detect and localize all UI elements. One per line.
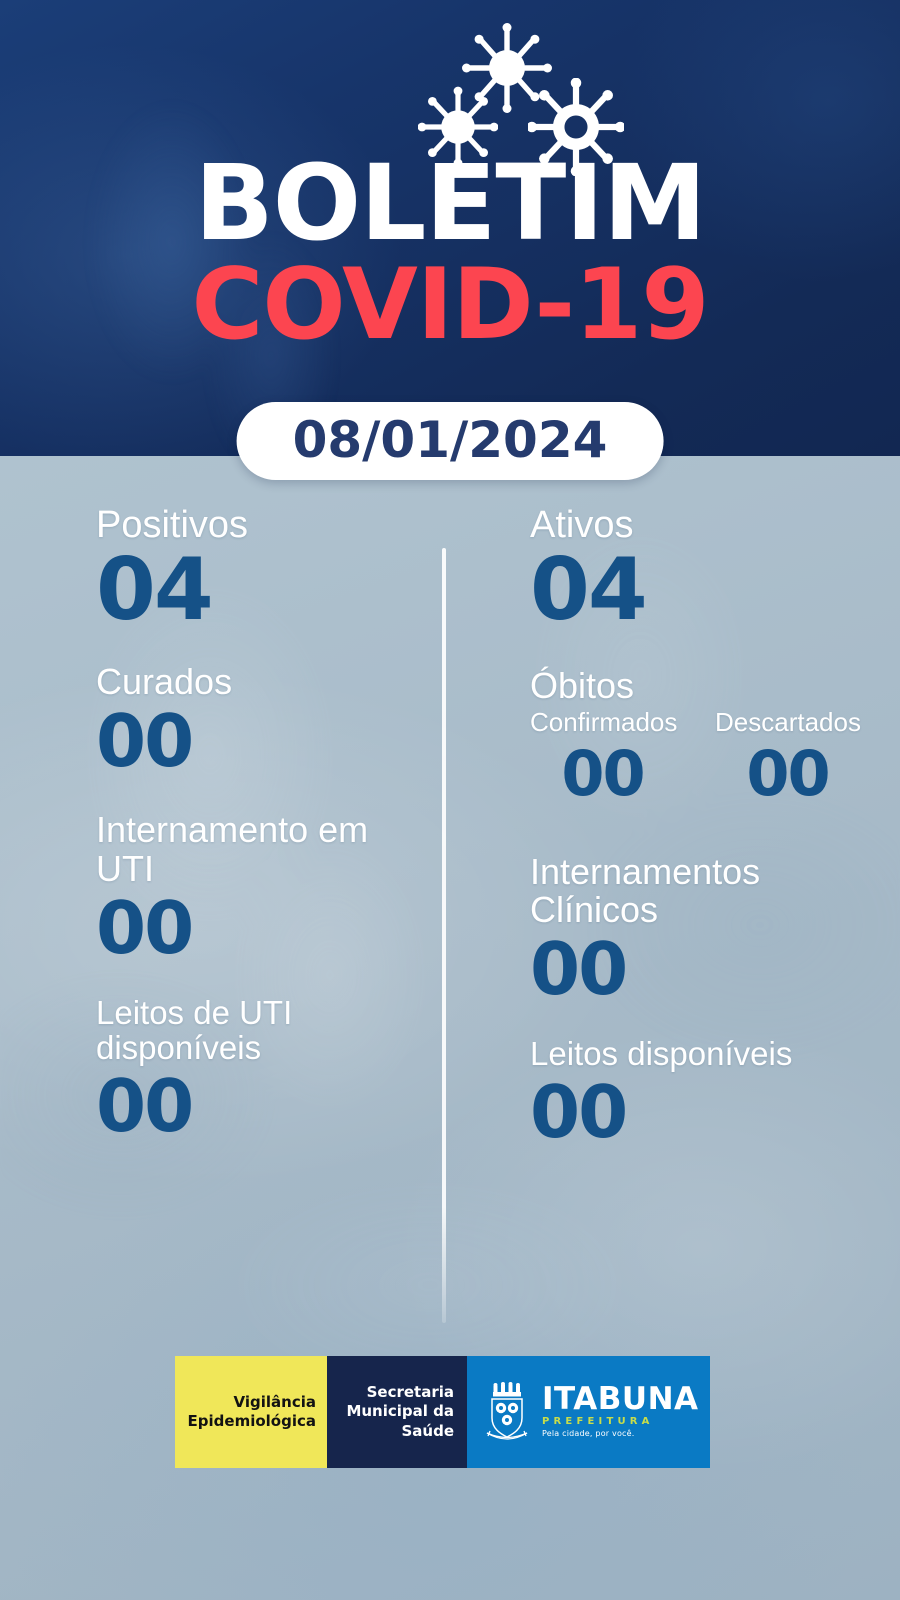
date-badge: 08/01/2024 [237,402,664,480]
footer-secretaria-line2: Municipal da [346,1402,454,1421]
itabuna-brand-sub: PREFEITURA [542,1415,699,1429]
stat-internamento-uti: Internamento em UTI 00 [96,811,436,963]
stat-sublabel: Descartados [715,709,860,737]
stat-sublabel: Confirmados [530,709,675,737]
boletim-covid-poster: BOLETIM COVID-19 08/01/2024 Positivos 04… [0,0,900,1600]
stat-leitos-uti-disponiveis: Leitos de UTI disponíveis 00 [96,996,436,1142]
footer-panel-vigilancia: Vigilância Epidemiológica [175,1356,327,1468]
footer-vigilancia-text: Vigilância Epidemiológica [188,1393,316,1431]
stat-obitos-confirmados: Confirmados 00 [530,709,675,805]
stat-obitos-descartados: Descartados 00 [715,709,860,805]
stat-positivos: Positivos 04 [96,505,436,633]
stat-curados: Curados 00 [96,663,436,777]
stat-value: 04 [530,547,880,633]
coat-of-arms-icon [481,1381,533,1443]
footer-logo-bar: Vigilância Epidemiológica Secretaria Mun… [175,1356,710,1468]
column-divider [442,548,446,1323]
stat-label: Óbitos [530,667,880,705]
stat-label: Positivos [96,505,436,545]
footer-secretaria-text: Secretaria Municipal da Saúde [346,1383,454,1441]
stat-value: 00 [96,892,436,964]
stat-value: 00 [530,933,880,1005]
footer-vigilancia-line2: Epidemiológica [188,1412,316,1431]
page-title: BOLETIM [0,155,900,252]
footer-panel-itabuna: ITABUNA PREFEITURA Pela cidade, por você… [467,1356,710,1468]
footer-secretaria-line3: Saúde [346,1422,454,1441]
page-subtitle: COVID-19 [0,256,900,354]
stat-label: Leitos de UTI disponíveis [96,996,326,1066]
poster-header: BOLETIM COVID-19 [0,0,900,456]
itabuna-brand-text: ITABUNA PREFEITURA Pela cidade, por você… [542,1385,699,1439]
stat-value: 04 [96,547,436,633]
itabuna-brand-tagline: Pela cidade, por você. [542,1428,699,1439]
stat-internamentos-clinicos: Internamentos Clínicos 00 [530,853,880,1005]
stat-label: Ativos [530,505,880,545]
stat-leitos-disponiveis: Leitos disponíveis 00 [530,1037,880,1148]
itabuna-brand-name: ITABUNA [542,1385,699,1415]
stat-label: Curados [96,663,436,701]
footer-panel-secretaria: Secretaria Municipal da Saúde [327,1356,467,1468]
stats-column-right: Ativos 04 Óbitos Confirmados 00 Descarta… [530,505,880,1148]
stat-value: 00 [715,743,860,805]
poster-title-block: BOLETIM COVID-19 [0,155,900,354]
footer-secretaria-line1: Secretaria [346,1383,454,1402]
stat-value: 00 [530,1076,880,1148]
stat-value: 00 [96,1070,436,1142]
stat-ativos: Ativos 04 [530,505,880,633]
stat-obitos: Óbitos Confirmados 00 Descartados 00 [530,667,880,805]
stat-value: 00 [530,743,675,805]
bulletin-date: 08/01/2024 [293,415,608,465]
stats-column-left: Positivos 04 Curados 00 Internamento em … [96,505,436,1142]
stat-label: Internamentos Clínicos [530,853,830,929]
stat-label: Leitos disponíveis [530,1037,880,1072]
obitos-subgrid: Confirmados 00 Descartados 00 [530,709,880,805]
stat-label: Internamento em UTI [96,811,371,887]
stat-value: 00 [96,705,436,777]
footer-vigilancia-line1: Vigilância [188,1393,316,1412]
virus-icon-group [0,22,900,162]
